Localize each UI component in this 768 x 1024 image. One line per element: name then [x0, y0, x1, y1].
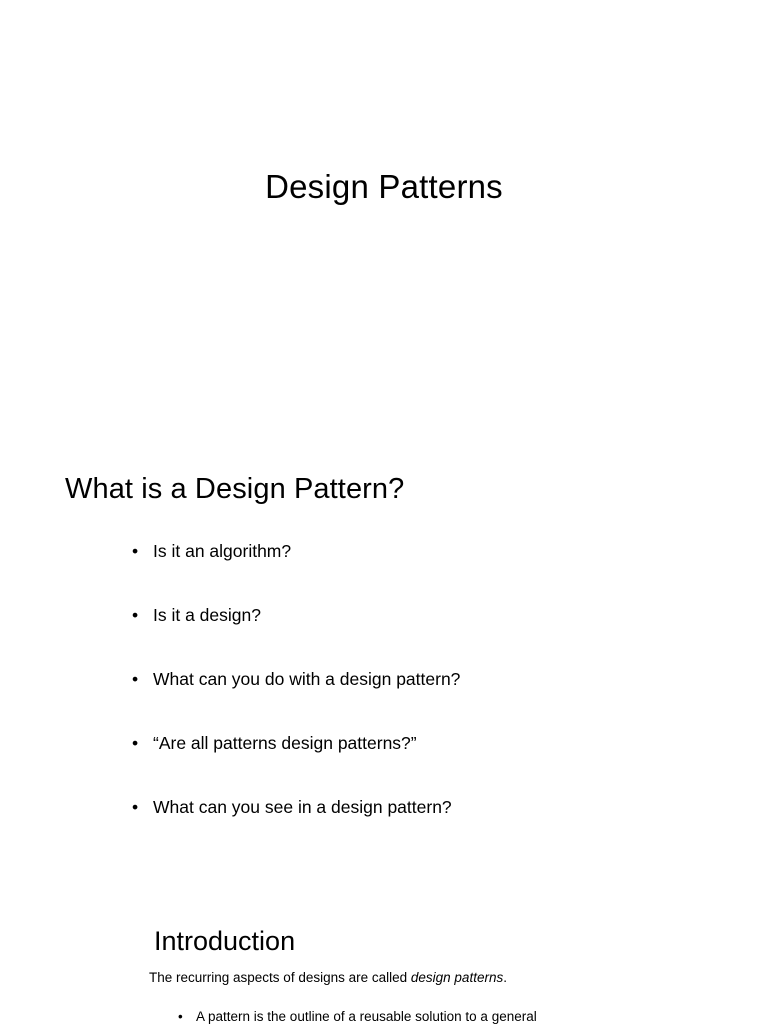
section-heading-what-is-a-design-pattern: What is a Design Pattern?: [65, 473, 404, 506]
introduction-lead-text: The recurring aspects of designs are cal…: [149, 969, 507, 987]
page-title: Design Patterns: [0, 168, 768, 206]
list-item: • What can you see in a design pattern?: [130, 796, 710, 818]
bullet-dot-icon: •: [132, 604, 138, 626]
section-heading-introduction: Introduction: [154, 926, 295, 957]
list-item: • What can you do with a design pattern?: [130, 668, 710, 690]
introduction-lead-emphasis: design patterns: [411, 970, 503, 985]
list-item-label: Is it a design?: [153, 605, 261, 625]
bullet-list: • Is it an algorithm? • Is it a design? …: [130, 540, 710, 860]
introduction-lead-after: .: [503, 970, 507, 985]
list-item: • Is it a design?: [130, 604, 710, 626]
bullet-dot-icon: •: [132, 668, 138, 690]
list-item: • “Are all patterns design patterns?”: [130, 732, 710, 754]
list-item-label: Is it an algorithm?: [153, 541, 291, 561]
bullet-dot-icon: •: [132, 732, 138, 754]
document-page: Design Patterns What is a Design Pattern…: [0, 0, 768, 1024]
introduction-bullet-list: • A pattern is the outline of a reusable…: [176, 1008, 736, 1024]
list-item-label: A pattern is the outline of a reusable s…: [196, 1009, 537, 1024]
introduction-lead-before: The recurring aspects of designs are cal…: [149, 970, 411, 985]
list-item: • A pattern is the outline of a reusable…: [176, 1008, 736, 1024]
list-item-label: What can you see in a design pattern?: [153, 797, 452, 817]
list-item-label: What can you do with a design pattern?: [153, 669, 460, 689]
bullet-dot-icon: •: [132, 796, 138, 818]
bullet-dot-icon: •: [132, 540, 138, 562]
list-item: • Is it an algorithm?: [130, 540, 710, 562]
bullet-dot-icon: •: [178, 1008, 183, 1024]
list-item-label: “Are all patterns design patterns?”: [153, 733, 417, 753]
